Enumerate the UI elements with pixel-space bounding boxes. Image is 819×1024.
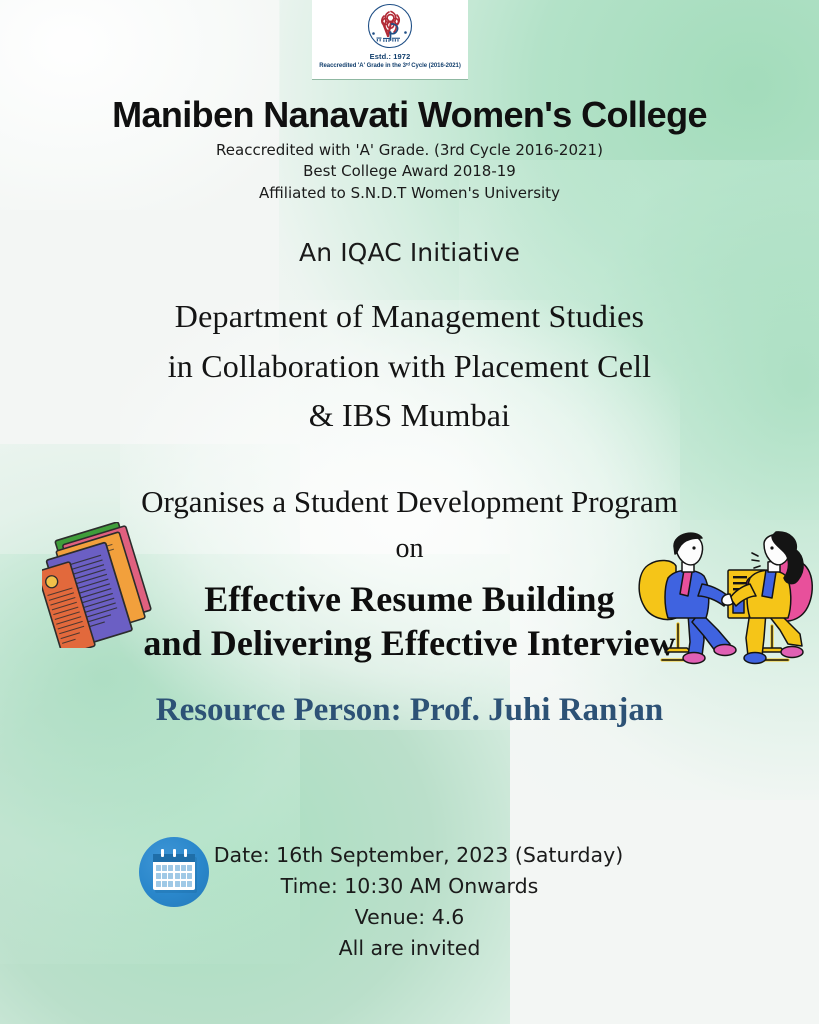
department-block: Department of Management Studies in Coll… bbox=[0, 292, 819, 441]
subtitle-line-award: Best College Award 2018-19 bbox=[0, 161, 819, 182]
college-logo-box: Estd.: 1972 Reaccredited 'A' Grade in th… bbox=[312, 0, 468, 80]
department-line-3: & IBS Mumbai bbox=[0, 391, 819, 441]
resume-documents-icon bbox=[42, 522, 170, 648]
poster-canvas: Estd.: 1972 Reaccredited 'A' Grade in th… bbox=[0, 0, 819, 1024]
event-date-text: Date: 16th September, 2023 (Saturday) bbox=[0, 840, 819, 871]
event-invite-text: All are invited bbox=[0, 933, 819, 964]
college-name-title: Maniben Nanavati Women's College bbox=[0, 96, 819, 134]
event-details-block: Date: 16th September, 2023 (Saturday) Ti… bbox=[0, 840, 819, 965]
logo-established-text: Estd.: 1972 bbox=[370, 53, 411, 61]
department-line-2: in Collaboration with Placement Cell bbox=[0, 342, 819, 392]
college-emblem-icon bbox=[364, 2, 416, 54]
calendar-icon bbox=[139, 837, 209, 907]
subtitle-line-accreditation: Reaccredited with 'A' Grade. (3rd Cycle … bbox=[0, 140, 819, 161]
logo-accreditation-text: Reaccredited 'A' Grade in the 3ʳᵈ Cycle … bbox=[319, 63, 461, 69]
resource-person-text: Resource Person: Prof. Juhi Ranjan bbox=[0, 688, 819, 733]
organises-text: Organises a Student Development Program bbox=[141, 484, 678, 519]
event-time-text: Time: 10:30 AM Onwards bbox=[0, 871, 819, 902]
iqac-initiative-label: An IQAC Initiative bbox=[0, 238, 819, 267]
interview-scene-icon bbox=[632, 526, 819, 674]
subtitle-line-affiliation: Affiliated to S.N.D.T Women's University bbox=[0, 183, 819, 204]
event-venue-text: Venue: 4.6 bbox=[0, 902, 819, 933]
department-line-1: Department of Management Studies bbox=[0, 292, 819, 342]
college-subtitle-block: Reaccredited with 'A' Grade. (3rd Cycle … bbox=[0, 140, 819, 204]
